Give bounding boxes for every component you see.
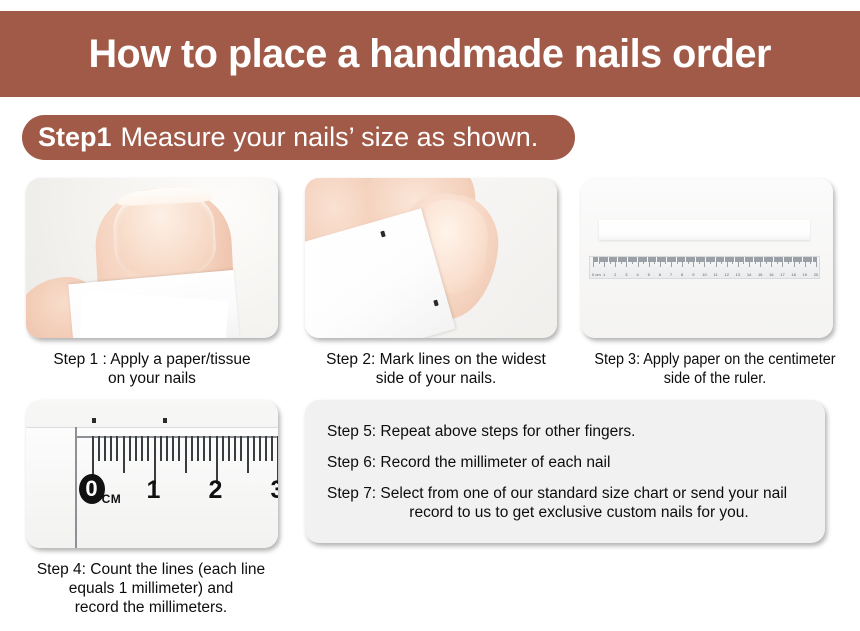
caption-step3: Step 3: Apply paper on the centimeter si… xyxy=(570,350,860,388)
pen-mark-left xyxy=(92,418,96,423)
photo-card-step1 xyxy=(26,178,278,338)
step1-instruction: Measure your nails’ size as shown. xyxy=(121,122,539,153)
caption-step4-line2: equals 1 millimeter) and xyxy=(6,579,296,598)
page-title: How to place a handmade nails order xyxy=(89,32,771,77)
caption-step1: Step 1 : Apply a paper/tissue on your na… xyxy=(10,350,294,388)
magnified-ruler-measurement-image: 0 CM 123 xyxy=(26,400,278,548)
header-banner: How to place a handmade nails order xyxy=(0,11,860,97)
step1-banner: Step1 Measure your nails’ size as shown. xyxy=(22,115,575,160)
photo-card-step3: 01cm234567891011121314151617181920 xyxy=(581,178,833,338)
steps-5-to-7-card: Step 5: Repeat above steps for other fin… xyxy=(305,400,825,543)
caption-step1-line2: on your nails xyxy=(10,369,294,388)
pen-mark-lower xyxy=(433,299,438,306)
step5-line: Step 5: Repeat above steps for other fin… xyxy=(327,422,805,441)
caption-step2: Step 2: Mark lines on the widest side of… xyxy=(294,350,578,388)
caption-step4-line3: record the millimeters. xyxy=(6,598,296,617)
caption-step2-line1: Step 2: Mark lines on the widest xyxy=(294,350,578,369)
step1-label: Step1 xyxy=(38,122,112,153)
fingertip-with-paper-strip-image xyxy=(26,178,278,338)
caption-step2-line2: side of your nails. xyxy=(294,369,578,388)
ruler-with-paper-strip-image: 01cm234567891011121314151617181920 xyxy=(581,178,833,338)
step7-line-continuation: record to us to get exclusive custom nai… xyxy=(327,503,805,522)
step6-line: Step 6: Record the millimeter of each na… xyxy=(327,453,805,472)
fingers-holding-marked-paper-image xyxy=(305,178,557,338)
pen-mark-right xyxy=(163,418,167,423)
step7-line-main: Step 7: Select from one of our standard … xyxy=(327,485,787,502)
step7-line: Step 7: Select from one of our standard … xyxy=(327,484,805,522)
photo-card-step2 xyxy=(305,178,557,338)
ruler-number-labels: 123 xyxy=(26,477,278,521)
caption-step1-line1: Step 1 : Apply a paper/tissue xyxy=(10,350,294,369)
pen-mark-upper xyxy=(380,230,385,237)
caption-step4: Step 4: Count the lines (each line equal… xyxy=(6,560,296,617)
caption-step3-line1: Step 3: Apply paper on the centimeter xyxy=(580,350,850,369)
caption-step3-line2: side of the ruler. xyxy=(580,369,850,388)
paper-strip-shape xyxy=(599,220,811,241)
ruler-shape: 01cm234567891011121314151617181920 xyxy=(589,256,821,278)
ruler-number-labels: 01cm234567891011121314151617181920 xyxy=(590,266,820,277)
photo-card-step4: 0 CM 123 xyxy=(26,400,278,548)
caption-step4-line1: Step 4: Count the lines (each line xyxy=(6,560,296,579)
